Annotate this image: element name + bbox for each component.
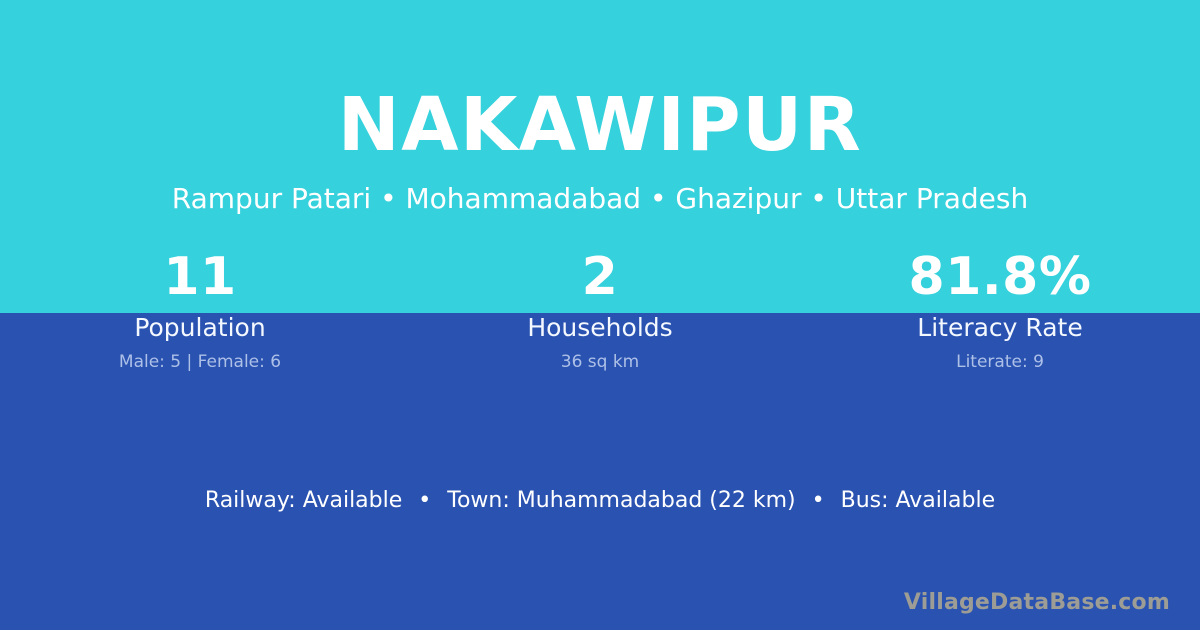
village-info-card: NAKAWIPUR Rampur Patari • Mohammadabad •… xyxy=(0,0,1200,630)
stats-row: 11 Population Male: 5 | Female: 6 2 Hous… xyxy=(0,248,1200,373)
infra-town: Town: Muhammadabad (22 km) xyxy=(447,488,795,513)
stat-literacy-rate: 81.8% Literacy Rate Literate: 9 xyxy=(800,248,1200,373)
stat-sublabel: Male: 5 | Female: 6 xyxy=(0,351,400,373)
stat-label: Population xyxy=(0,313,400,343)
stat-sublabel: Literate: 9 xyxy=(800,351,1200,373)
stat-value: 11 xyxy=(0,248,400,306)
stat-value: 81.8% xyxy=(800,248,1200,306)
page-title: NAKAWIPUR xyxy=(0,82,1200,168)
infra-bus: Bus: Available xyxy=(841,488,995,513)
stat-label: Households xyxy=(400,313,800,343)
infrastructure-line: Railway: Available • Town: Muhammadabad … xyxy=(0,487,1200,515)
stat-population: 11 Population Male: 5 | Female: 6 xyxy=(0,248,400,373)
stat-households: 2 Households 36 sq km xyxy=(400,248,800,373)
stat-sublabel: 36 sq km xyxy=(400,351,800,373)
infra-separator-1: • xyxy=(409,487,440,515)
stat-label: Literacy Rate xyxy=(800,313,1200,343)
infra-railway: Railway: Available xyxy=(205,488,402,513)
stat-value: 2 xyxy=(400,248,800,306)
card-content: NAKAWIPUR Rampur Patari • Mohammadabad •… xyxy=(0,0,1200,630)
site-brand: VillageDataBase.com xyxy=(904,588,1170,618)
breadcrumb: Rampur Patari • Mohammadabad • Ghazipur … xyxy=(0,180,1200,218)
infra-separator-2: • xyxy=(803,487,834,515)
